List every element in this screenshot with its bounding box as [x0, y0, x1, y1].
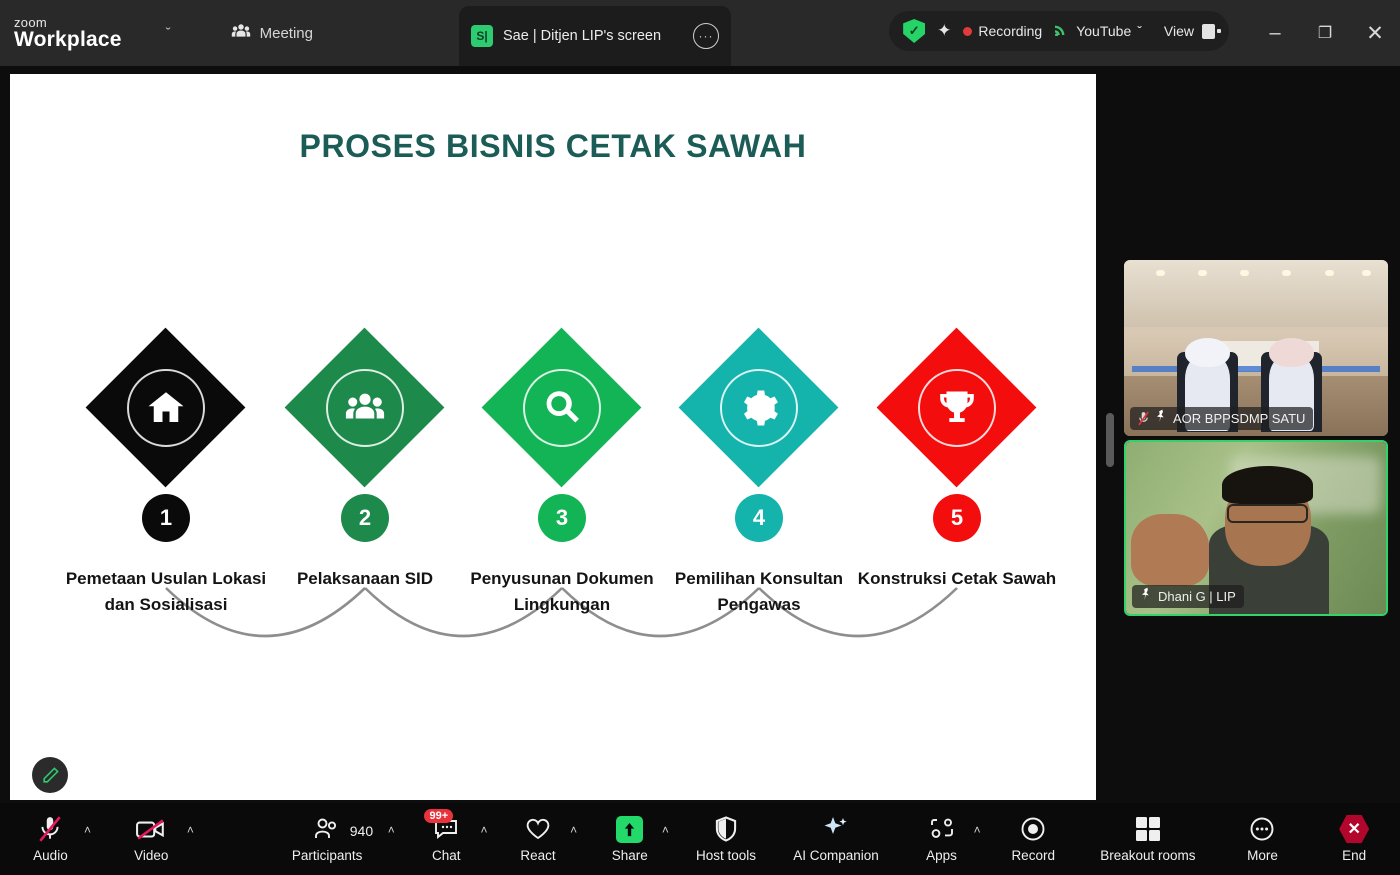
participant-name: Dhani G | LIP: [1158, 589, 1236, 604]
step-2-label: Pelaksanaan SID: [263, 566, 468, 592]
participant-tile-aor-bppsdmp-satu[interactable]: AOR BPPSDMP SATU: [1124, 260, 1388, 436]
youtube-livestream-status[interactable]: YouTube ˇ: [1054, 22, 1142, 41]
step-1-number: 1: [142, 494, 190, 542]
toolbar-apps-label: Apps: [926, 848, 957, 863]
toolbar-host-tools-button[interactable]: Host tools: [676, 803, 777, 875]
process-step-2: 2 Pelaksanaan SID: [265, 328, 465, 488]
step-1-label: Pemetaan Usulan Lokasi dan Sosialisasi: [64, 566, 269, 617]
toolbar-end-label: End: [1342, 848, 1366, 863]
shared-content-scrollbar[interactable]: [1106, 413, 1114, 467]
encryption-shield-icon[interactable]: ✓: [903, 19, 925, 43]
gear-icon: [738, 387, 780, 429]
pin-icon: [1155, 409, 1167, 428]
toolbar-chat-button[interactable]: Chat 99+ ˄: [400, 803, 492, 875]
toolbar-react-button[interactable]: React ˄: [492, 803, 584, 875]
toolbar-share-button[interactable]: Share ˄: [584, 803, 676, 875]
restore-button[interactable]: ❐: [1300, 0, 1350, 66]
meeting-toolbar: Audio ˄ Video ˄ Participants 940 ˄ Chat …: [0, 803, 1400, 875]
share-screen-icon: [616, 815, 643, 843]
sparkle-icon: [822, 815, 850, 843]
view-layout-button[interactable]: View: [1164, 23, 1215, 39]
chevron-up-icon[interactable]: ˄: [480, 823, 487, 837]
toolbar-end-button[interactable]: ✕ End: [1308, 803, 1400, 875]
pencil-icon: [41, 766, 60, 785]
participant-name-badge: Dhani G | LIP: [1132, 585, 1244, 608]
toolbar-ai-companion-button[interactable]: AI Companion: [776, 803, 895, 875]
recording-status[interactable]: Recording: [963, 23, 1042, 39]
step-4-ring: [720, 369, 798, 447]
participants-count: 940: [350, 823, 373, 839]
ai-companion-sparkle-icon[interactable]: ✦: [937, 21, 951, 41]
toolbar-video-label: Video: [134, 848, 168, 863]
apps-icon: [929, 815, 955, 843]
toolbar-host-tools-label: Host tools: [696, 848, 756, 863]
layout-icon: [1202, 24, 1215, 39]
toolbar-audio-label: Audio: [33, 848, 68, 863]
youtube-label: YouTube: [1076, 23, 1131, 39]
toolbar-video-button[interactable]: Video ˄: [101, 803, 202, 875]
toolbar-apps-button[interactable]: Apps ˄: [896, 803, 988, 875]
participant-name-badge: AOR BPPSDMP SATU: [1130, 407, 1313, 430]
chevron-up-icon[interactable]: ˄: [187, 823, 194, 837]
pin-icon: [1140, 587, 1152, 606]
toolbar-breakout-rooms-button[interactable]: Breakout rooms: [1079, 803, 1217, 875]
process-step-1: 1 Pemetaan Usulan Lokasi dan Sosialisasi: [66, 328, 266, 488]
chevron-down-icon: ˇ: [1137, 23, 1142, 39]
minimize-button[interactable]: –: [1250, 0, 1300, 66]
view-label: View: [1164, 23, 1194, 39]
title-bar: zoom Workplace ˇ Meeting S| Sae | Ditjen…: [0, 0, 1400, 66]
step-1-ring: [127, 369, 205, 447]
chevron-up-icon[interactable]: ˄: [662, 823, 669, 837]
broadcast-icon: [1054, 22, 1070, 41]
chat-unread-badge: 99+: [424, 809, 453, 823]
step-4-number: 4: [735, 494, 783, 542]
toolbar-ai-companion-label: AI Companion: [793, 848, 879, 863]
process-step-3: 3 Penyusunan Dokumen Lingkungan: [462, 328, 662, 488]
toolbar-breakout-rooms-label: Breakout rooms: [1100, 848, 1195, 863]
step-5-ring: [918, 369, 996, 447]
home-icon: [145, 387, 187, 429]
process-step-4: 4 Pemilihan Konsultan Pengawas: [659, 328, 859, 488]
heart-icon: [525, 815, 551, 843]
shield-icon: [714, 815, 738, 843]
shared-screen-content[interactable]: PROSES BISNIS CETAK SAWAH 1 Pemetaan Usu…: [10, 74, 1096, 800]
end-call-icon: ✕: [1339, 815, 1369, 843]
record-icon: [1020, 815, 1046, 843]
step-3-ring: [523, 369, 601, 447]
camera-off-icon: [136, 815, 166, 843]
tab-meeting-label: Meeting: [260, 25, 313, 42]
microphone-muted-icon: [1138, 411, 1149, 426]
toolbar-record-button[interactable]: Record: [987, 803, 1079, 875]
step-4-label: Pemilihan Konsultan Pengawas: [657, 566, 862, 617]
chevron-up-icon[interactable]: ˄: [570, 823, 577, 837]
tab-meeting[interactable]: Meeting: [219, 16, 325, 51]
search-icon: [541, 387, 583, 429]
share-source-badge: S|: [471, 25, 493, 47]
more-icon: [1249, 815, 1275, 843]
toolbar-chat-label: Chat: [432, 848, 461, 863]
step-2-number: 2: [341, 494, 389, 542]
step-3-label: Penyusunan Dokumen Lingkungan: [460, 566, 665, 617]
toolbar-more-label: More: [1247, 848, 1278, 863]
process-flow-diagram: 1 Pemetaan Usulan Lokasi dan Sosialisasi…: [10, 284, 1096, 754]
participants-icon: [231, 23, 251, 44]
close-button[interactable]: ✕: [1350, 0, 1400, 66]
tab-shared-screen-label: Sae | Ditjen LIP's screen: [503, 28, 683, 44]
toolbar-participants-label: Participants: [292, 848, 363, 863]
process-step-5: 5 Konstruksi Cetak Sawah: [857, 328, 1057, 488]
microphone-muted-icon: [38, 815, 62, 843]
annotate-button[interactable]: [32, 757, 68, 793]
trophy-icon: [936, 387, 978, 429]
participants-icon: [314, 815, 340, 843]
toolbar-react-label: React: [520, 848, 555, 863]
chevron-up-icon[interactable]: ˄: [84, 823, 91, 837]
window-controls: – ❐ ✕: [1250, 0, 1400, 66]
participant-name: AOR BPPSDMP SATU: [1173, 411, 1305, 426]
tab-more-options-icon[interactable]: ···: [693, 23, 719, 49]
toolbar-more-button[interactable]: More: [1217, 803, 1309, 875]
toolbar-share-label: Share: [612, 848, 648, 863]
chevron-up-icon[interactable]: ˄: [974, 823, 981, 837]
recording-dot-icon: [963, 27, 972, 36]
chevron-down-icon[interactable]: ˇ: [156, 19, 181, 48]
toolbar-audio-button[interactable]: Audio ˄: [0, 803, 101, 875]
recording-label: Recording: [978, 23, 1042, 39]
meeting-status-cluster: ✓ ✦ Recording YouTube ˇ View: [889, 11, 1229, 51]
chevron-up-icon[interactable]: ˄: [388, 823, 395, 837]
step-5-label: Konstruksi Cetak Sawah: [855, 566, 1060, 592]
tab-shared-screen[interactable]: S| Sae | Ditjen LIP's screen ···: [459, 6, 731, 66]
step-2-ring: [326, 369, 404, 447]
zoom-workplace-logo: zoom Workplace: [0, 16, 122, 50]
zoom-meeting-window: zoom Workplace ˇ Meeting S| Sae | Ditjen…: [0, 0, 1400, 875]
participant-tile-dhani-g-lip[interactable]: Dhani G | LIP: [1124, 440, 1388, 616]
toolbar-record-label: Record: [1011, 848, 1055, 863]
breakout-rooms-icon: [1134, 815, 1162, 843]
step-3-number: 3: [538, 494, 586, 542]
step-5-number: 5: [933, 494, 981, 542]
people-icon: [344, 387, 386, 429]
toolbar-participants-button[interactable]: Participants 940 ˄: [254, 803, 401, 875]
brand-workplace-text: Workplace: [14, 29, 122, 50]
slide-title: PROSES BISNIS CETAK SAWAH: [10, 128, 1096, 165]
